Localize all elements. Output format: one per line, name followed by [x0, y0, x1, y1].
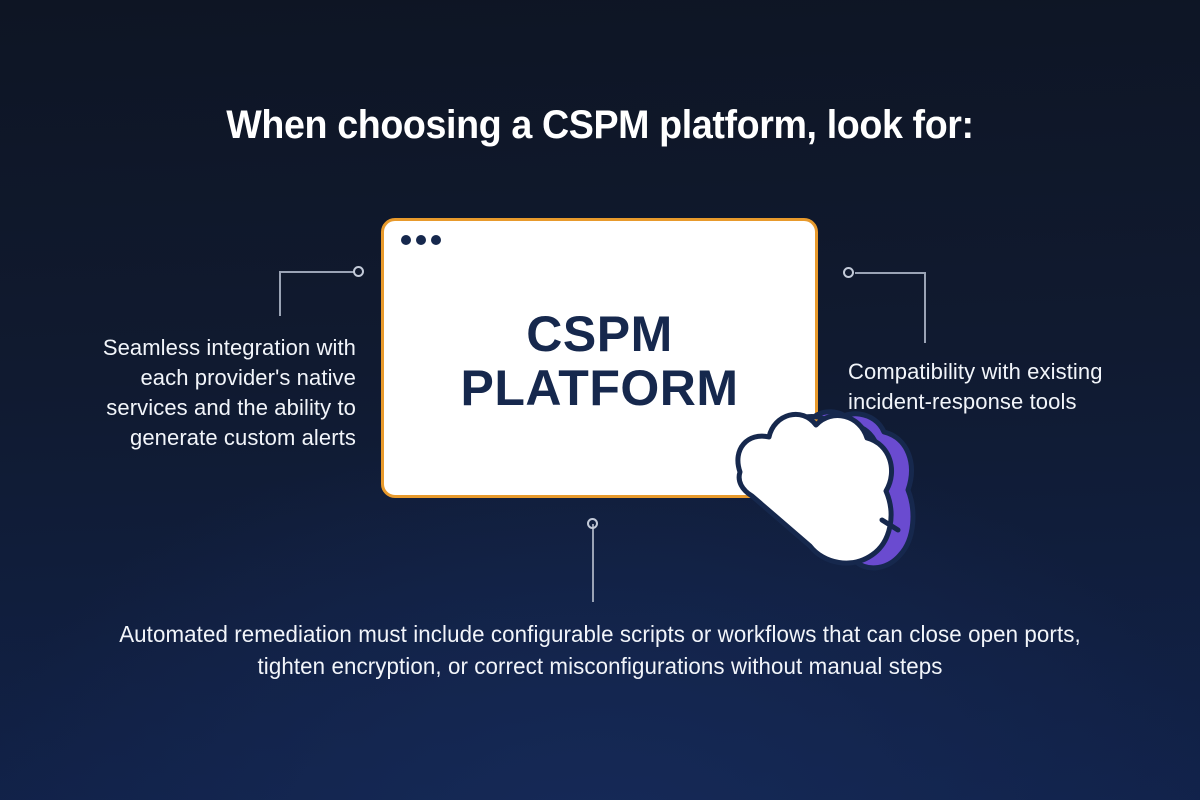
cloud-icon [712, 392, 927, 602]
connector-left-node [353, 266, 364, 277]
connector-bottom-vertical-line [592, 524, 594, 602]
cloud-top-face [738, 414, 892, 563]
connector-right [843, 265, 933, 343]
connector-right-horizontal-line [855, 272, 926, 274]
window-dot-2-icon [416, 235, 426, 245]
connector-bottom [587, 518, 603, 604]
card-title-line-1: CSPM [526, 306, 672, 362]
window-dot-1-icon [401, 235, 411, 245]
window-dots [401, 235, 441, 245]
connector-left-horizontal-line [279, 271, 355, 273]
infographic-canvas: When choosing a CSPM platform, look for:… [0, 0, 1200, 800]
connector-right-node [843, 267, 854, 278]
label-left-seamless-integration: Seamless integration with each provider'… [60, 333, 356, 453]
page-title: When choosing a CSPM platform, look for: [36, 103, 1164, 148]
label-bottom-automated-remediation: Automated remediation must include confi… [105, 618, 1094, 682]
connector-right-vertical-line [924, 272, 926, 343]
connector-bottom-node [587, 518, 598, 529]
connector-left-vertical-line [279, 271, 281, 316]
window-dot-3-icon [431, 235, 441, 245]
connector-left [277, 264, 367, 316]
